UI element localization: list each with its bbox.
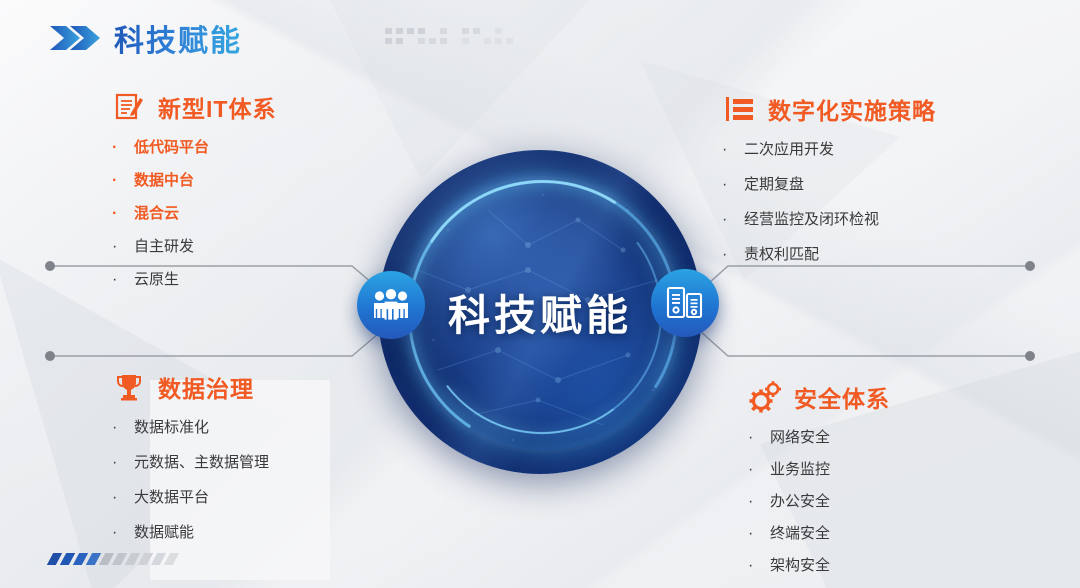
bullet-marker: · <box>722 212 744 228</box>
quadrant-title: 数据治理 <box>158 370 254 404</box>
list-item: ·业务监控 <box>748 458 890 479</box>
list-item: ·经营监控及闭环检视 <box>722 208 936 229</box>
list-item-label: 数据标准化 <box>134 416 209 437</box>
list-item-label: 低代码平台 <box>134 136 209 157</box>
gears-icon <box>748 380 782 414</box>
quadrant-header: 数据治理 <box>112 370 269 404</box>
slide-header: 科技赋能 <box>48 16 242 60</box>
list-item-label: 经营监控及闭环检视 <box>744 208 879 229</box>
dot-grid-decoration <box>385 28 515 46</box>
page-title: 科技赋能 <box>114 16 242 60</box>
trophy-icon <box>112 370 146 404</box>
bullet-marker: · <box>722 177 744 193</box>
quadrant-header: 安全体系 <box>748 380 890 414</box>
quadrant-item-list: ·低代码平台 ·数据中台 ·混合云 ·自主研发 ·云原生 <box>112 136 276 289</box>
list-item: ·大数据平台 <box>112 486 269 507</box>
bullet-marker: · <box>722 247 744 263</box>
quadrant-new-it-system: 新型IT体系 ·低代码平台 ·数据中台 ·混合云 ·自主研发 ·云原生 <box>112 90 276 301</box>
list-item-label: 自主研发 <box>134 235 194 256</box>
list-item: ·云原生 <box>112 268 276 289</box>
list-item: ·低代码平台 <box>112 136 276 157</box>
bullet-marker: · <box>112 239 134 255</box>
list-item: ·二次应用开发 <box>722 138 936 159</box>
notepad-pencil-icon <box>112 90 146 124</box>
list-item: ·终端安全 <box>748 522 890 543</box>
list-bars-icon <box>722 92 756 126</box>
list-item-label: 定期复盘 <box>744 173 804 194</box>
list-item: ·数据赋能 <box>112 521 269 542</box>
list-item: ·数据中台 <box>112 169 276 190</box>
list-item: ·责权利匹配 <box>722 243 936 264</box>
list-item: ·数据标准化 <box>112 416 269 437</box>
bullet-marker: · <box>112 525 134 541</box>
bullet-marker: · <box>112 272 134 288</box>
list-item: ·自主研发 <box>112 235 276 256</box>
double-chevron-right-icon <box>48 23 100 53</box>
list-item-label: 大数据平台 <box>134 486 209 507</box>
bullet-marker: · <box>722 142 744 158</box>
list-item-label: 终端安全 <box>770 522 830 543</box>
list-item: ·网络安全 <box>748 426 890 447</box>
bullet-marker: · <box>748 526 770 542</box>
quadrant-item-list: ·网络安全 ·业务监控 ·办公安全 ·终端安全 ·架构安全 ·数据安全 <box>748 426 890 588</box>
bullet-marker: · <box>112 420 134 436</box>
quadrant-security-system: 安全体系 ·网络安全 ·业务监控 ·办公安全 ·终端安全 ·架构安全 ·数据安全 <box>748 380 890 588</box>
list-item-label: 业务监控 <box>770 458 830 479</box>
list-item-label: 数据中台 <box>134 169 194 190</box>
list-item: ·架构安全 <box>748 554 890 575</box>
bullet-marker: · <box>748 558 770 574</box>
bullet-marker: · <box>112 140 134 156</box>
list-item-label: 网络安全 <box>770 426 830 447</box>
list-item-label: 云原生 <box>134 268 179 289</box>
bullet-marker: · <box>112 490 134 506</box>
quadrant-header: 新型IT体系 <box>112 90 276 124</box>
quadrant-title: 数字化实施策略 <box>768 92 936 126</box>
list-item: ·定期复盘 <box>722 173 936 194</box>
diagonal-stripes-decoration <box>50 553 176 565</box>
list-item-label: 办公安全 <box>770 490 830 511</box>
bullet-marker: · <box>112 455 134 471</box>
bullet-marker: · <box>112 173 134 189</box>
list-item-label: 责权利匹配 <box>744 243 819 264</box>
list-item-label: 架构安全 <box>770 554 830 575</box>
list-item-label: 数据赋能 <box>134 521 194 542</box>
people-group-icon[interactable] <box>357 271 425 339</box>
list-item-label: 二次应用开发 <box>744 138 834 159</box>
quadrant-item-list: ·数据标准化 ·元数据、主数据管理 ·大数据平台 ·数据赋能 <box>112 416 269 542</box>
quadrant-header: 数字化实施策略 <box>722 92 936 126</box>
quadrant-title: 新型IT体系 <box>158 90 276 124</box>
quadrant-title: 安全体系 <box>794 380 890 414</box>
slide-canvas: 科技赋能 <box>0 0 1080 588</box>
bullet-marker: · <box>748 462 770 478</box>
list-item: ·元数据、主数据管理 <box>112 451 269 472</box>
list-item: ·办公安全 <box>748 490 890 511</box>
server-rack-icon[interactable] <box>651 269 719 337</box>
quadrant-data-governance: 数据治理 ·数据标准化 ·元数据、主数据管理 ·大数据平台 ·数据赋能 <box>112 370 269 556</box>
bullet-marker: · <box>112 206 134 222</box>
list-item-label: 混合云 <box>134 202 179 223</box>
bullet-marker: · <box>748 430 770 446</box>
bullet-marker: · <box>748 494 770 510</box>
list-item: ·混合云 <box>112 202 276 223</box>
list-item-label: 元数据、主数据管理 <box>134 451 269 472</box>
quadrant-item-list: ·二次应用开发 ·定期复盘 ·经营监控及闭环检视 ·责权利匹配 <box>722 138 936 264</box>
quadrant-digital-strategy: 数字化实施策略 ·二次应用开发 ·定期复盘 ·经营监控及闭环检视 ·责权利匹配 <box>722 92 936 278</box>
